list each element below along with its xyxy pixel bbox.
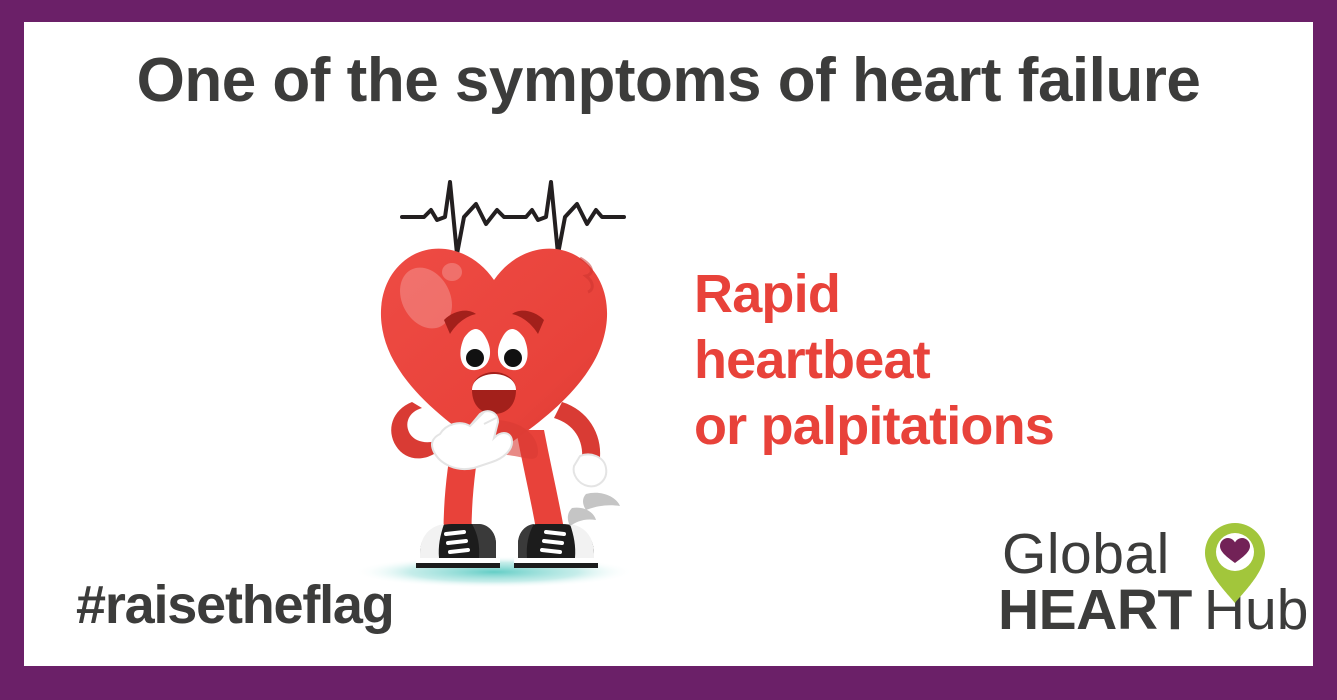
- symptom-line-3: or palpitations: [694, 394, 1054, 460]
- map-pin-heart-icon: [1202, 522, 1268, 604]
- mouth: [472, 372, 516, 414]
- page-title: One of the symptoms of heart failure: [24, 50, 1313, 112]
- poster-inner-card: One of the symptoms of heart failure: [24, 22, 1313, 666]
- logo-text-heart: HEART: [998, 582, 1192, 639]
- right-arm: [554, 402, 600, 460]
- logo-text-global: Global: [1002, 526, 1170, 583]
- symptom-line-2: heartbeat: [694, 328, 1054, 394]
- poster-root: One of the symptoms of heart failure: [0, 0, 1337, 700]
- left-shoe: [416, 524, 500, 568]
- left-pupil: [466, 349, 484, 367]
- right-glove: [574, 455, 607, 487]
- global-heart-hub-logo[interactable]: Global HEART Hub: [984, 520, 1294, 650]
- heart-mascot-illustration: [294, 162, 694, 592]
- motion-marks: [568, 493, 620, 526]
- ecg-icon: [402, 182, 624, 254]
- hashtag-raisetheflag: #raisetheflag: [76, 578, 394, 632]
- symptom-line-1: Rapid: [694, 262, 1054, 328]
- right-shoe: [514, 524, 598, 568]
- symptom-text: Rapid heartbeat or palpitations: [694, 262, 1054, 460]
- right-pupil: [504, 349, 522, 367]
